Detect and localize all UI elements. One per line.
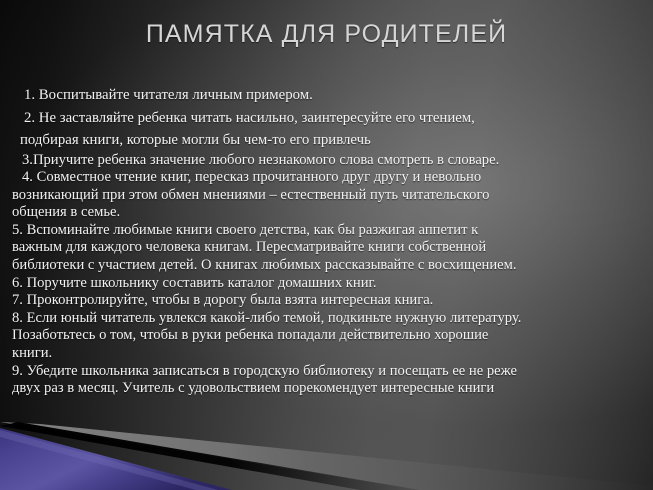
- text-line-item-8-cont-1: Позаботьтесь о том, чтобы в руки ребенка…: [0, 327, 653, 345]
- corner-decoration: [0, 400, 653, 490]
- text-line-item-8: 8. Если юный читатель увлекся какой-либо…: [0, 310, 653, 328]
- text-line-item-2-cont: подбирая книги, которые могли бы чем-то …: [0, 129, 653, 152]
- page-title: ПАМЯТКА ДЛЯ РОДИТЕЛЕЙ: [0, 20, 653, 49]
- shadow-band-shape: [0, 422, 420, 490]
- text-line-item-6: 6. Поручите школьнику составить каталог …: [0, 275, 653, 293]
- text-line-item-5: 5. Вспоминайте любимые книги своего детс…: [0, 222, 653, 240]
- text-line-item-9: 9. Убедите школьника записаться в городс…: [0, 363, 653, 381]
- text-line-item-3: 3.Приучите ребенка значение любого незна…: [0, 152, 653, 170]
- text-line-item-9-cont-1: двух раз в месяц. Учитель с удовольствие…: [0, 380, 653, 398]
- blue-triangle-shape: [0, 428, 232, 490]
- text-line-item-5-cont-2: библиотеки с участием детей. О книгах лю…: [0, 257, 653, 275]
- triangle-highlight-shape: [0, 430, 218, 490]
- text-line-item-2: 2. Не заставляйте ребенка читать насильн…: [0, 107, 653, 130]
- text-line-item-4-cont-1: возникающий при этом обмен мнениями – ес…: [0, 187, 653, 205]
- text-line-item-4: 4. Совместное чтение книг, пересказ проч…: [0, 169, 653, 187]
- body-text-block: 1. Воспитывайте читателя личным примером…: [0, 84, 653, 398]
- presentation-slide: ПАМЯТКА ДЛЯ РОДИТЕЛЕЙ 1. Воспитывайте чи…: [0, 0, 653, 490]
- text-line-item-5-cont-1: важным для каждого человека книгам. Пере…: [0, 239, 653, 257]
- text-line-item-8-cont-2: книги.: [0, 345, 653, 363]
- text-line-item-1: 1. Воспитывайте читателя личным примером…: [0, 84, 653, 107]
- text-line-item-7: 7. Проконтролируйте, чтобы в дорогу была…: [0, 292, 653, 310]
- gray-stripe-shape: [0, 422, 653, 490]
- text-line-item-4-cont-2: общения в семье.: [0, 204, 653, 222]
